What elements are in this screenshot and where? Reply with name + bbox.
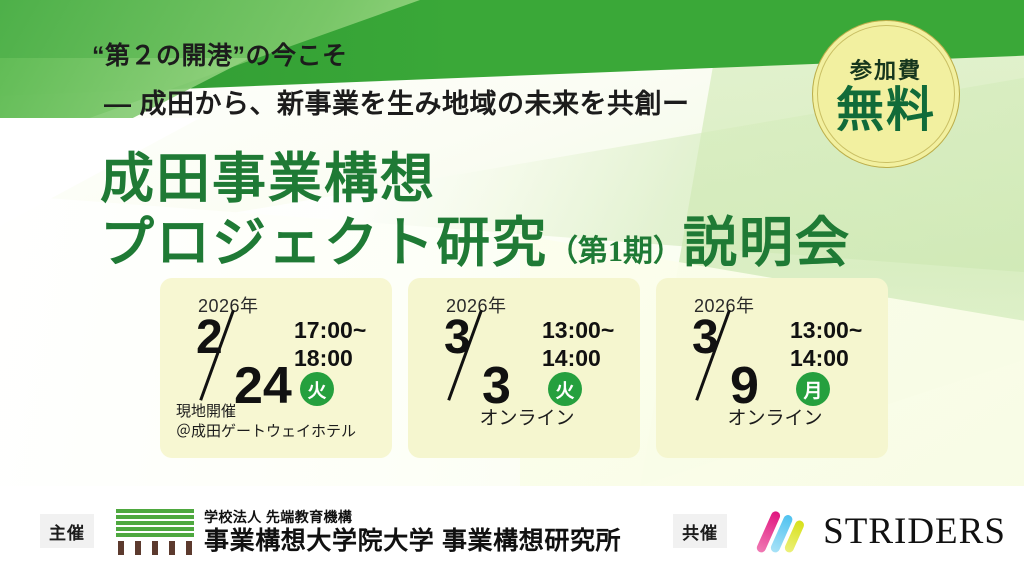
session-date: 3 9 13:00~ 14:00 月 [670,314,880,414]
host-name: 学校法人 先端教育機構 事業構想大学院大学 事業構想研究所 [204,507,621,554]
host-institute: 事業構想大学院大学 事業構想研究所 [204,528,621,554]
session-venue: オンライン [424,406,630,432]
session-date: 2 24 17:00~ 18:00 火 [174,314,384,414]
host-tag: 主催 [40,514,94,548]
badge-label: 参加費 [850,53,922,85]
session-weekday-badge: 月 [796,372,830,406]
subtitle-line-2: ― 成田から、新事業を生み地域の未来を共創ー [104,82,690,121]
session-time-start: 17:00~ [294,317,366,343]
badge-value: 無料 [836,87,936,135]
session-time-end: 18:00 [294,345,353,371]
session-card[interactable]: 2026年 3 3 13:00~ 14:00 火 オンライン [408,278,640,458]
session-time: 13:00~ 14:00 [542,316,614,372]
session-time: 17:00~ 18:00 [294,316,366,372]
session-time-start: 13:00~ [542,317,614,343]
session-weekday-badge: 火 [300,372,334,406]
host-corporation: 学校法人 先端教育機構 [204,507,621,527]
page-title-line-2: プロジェクト研究 （第1期） 説明会 [100,198,851,277]
subtitle-line-1: “第２の開港”の今こそ [92,36,348,72]
session-card[interactable]: 2026年 2 24 17:00~ 18:00 火 現地開催 ＠成田ゲートウェイ… [160,278,392,458]
logo-brown-bars [118,541,192,555]
session-venue-line-1: 現地開催 [176,403,236,420]
page-title-phase: （第1期） [548,226,683,270]
session-venue-line-2: ＠成田ゲートウェイホテル [176,423,356,440]
session-venue: 現地開催 ＠成田ゲートウェイホテル [176,402,382,443]
event-poster: “第２の開港”の今こそ ― 成田から、新事業を生み地域の未来を共創ー 成田事業構… [0,0,1024,576]
cohost-tag: 共催 [673,514,727,548]
host-block: 主催 学校法人 先端教育機構 事業構想大学院大学 事業構想研究所 [40,507,621,554]
session-card[interactable]: 2026年 3 9 13:00~ 14:00 月 オンライン [656,278,888,458]
striders-logo: STRIDERS [749,508,1006,554]
session-venue-line-1: オンライン [727,408,822,429]
session-weekday-badge: 火 [548,372,582,406]
cohost-block: 共催 STRIDERS [673,508,1006,554]
session-day: 3 [482,360,511,412]
session-time: 13:00~ 14:00 [790,316,862,372]
session-venue-line-1: オンライン [479,408,574,429]
page-title-tail: 説明会 [683,198,851,277]
footer: 主催 学校法人 先端教育機構 事業構想大学院大学 事業構想研究所 共催 S [0,486,1024,576]
page-title-main: プロジェクト研究 [100,198,548,277]
session-venue: オンライン [672,406,878,432]
free-admission-badge: 参加費 無料 [812,20,960,168]
session-time-start: 13:00~ [790,317,862,343]
session-time-end: 14:00 [542,345,601,371]
logo-green-bars [116,509,194,537]
university-logo-icon [116,509,194,553]
session-day: 9 [730,360,759,412]
session-time-end: 14:00 [790,345,849,371]
session-card-list: 2026年 2 24 17:00~ 18:00 火 現地開催 ＠成田ゲートウェイ… [160,278,888,458]
session-date: 3 3 13:00~ 14:00 火 [422,314,632,414]
cohost-name: STRIDERS [823,510,1006,553]
striders-mark-icon [749,508,811,554]
